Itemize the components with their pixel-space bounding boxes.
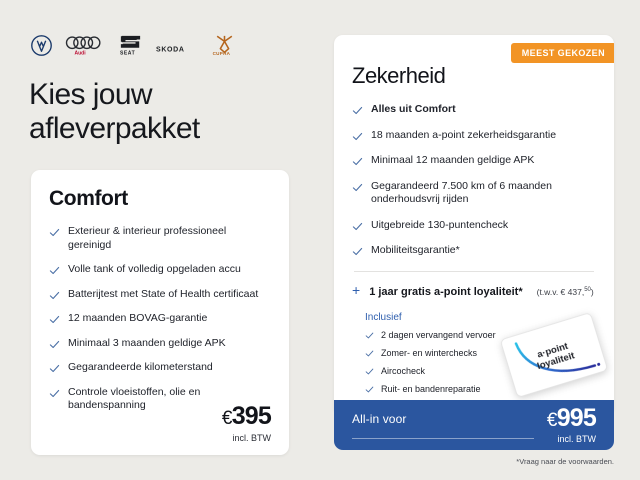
- feature-label: 12 maanden BOVAG-garantie: [68, 312, 207, 326]
- comfort-price-amount: 395: [232, 402, 271, 430]
- allin-rule: [352, 438, 534, 439]
- brand-logo-bar: Audi SEAT SKODA CUPRA: [31, 32, 238, 56]
- check-icon: [49, 314, 60, 325]
- allin-price-amount: 995: [557, 404, 596, 432]
- list-item: Alles uit Comfort: [352, 103, 596, 117]
- volkswagen-logo: [31, 35, 52, 56]
- feature-label: 18 maanden a-point zekerheidsgarantie: [371, 129, 556, 143]
- zekerheid-feature-list: Alles uit Comfort18 maanden a-point zeke…: [352, 103, 596, 258]
- comfort-card-title: Comfort: [49, 187, 271, 211]
- svg-text:CUPRA: CUPRA: [213, 51, 231, 56]
- feature-label: Batterijtest met State of Health certifi…: [68, 288, 258, 302]
- check-icon: [352, 131, 363, 142]
- feature-label: Minimaal 3 maanden geldige APK: [68, 337, 226, 351]
- skoda-logo: SKODA: [156, 42, 198, 56]
- comfort-price-currency: €: [222, 408, 232, 429]
- zekerheid-package-card[interactable]: MEEST GEKOZEN Zekerheid Alles uit Comfor…: [334, 35, 614, 410]
- left-column: Audi SEAT SKODA CUPRA Kies jouwafleverpa…: [0, 0, 320, 480]
- page-title-line1: Kies jouw: [29, 78, 152, 111]
- seat-logo: SEAT: [118, 34, 143, 56]
- svg-text:SEAT: SEAT: [120, 51, 136, 56]
- list-item: 18 maanden a-point zekerheidsgarantie: [352, 129, 596, 143]
- feature-label: Mobiliteitsgarantie*: [371, 244, 460, 258]
- zekerheid-card-title: Zekerheid: [352, 63, 596, 89]
- comfort-package-card[interactable]: Comfort Exterieur & interieur profession…: [31, 170, 289, 455]
- loyalty-offer-title: 1 jaar gratis a-point loyaliteit*: [369, 286, 522, 298]
- svg-text:SKODA: SKODA: [156, 46, 185, 53]
- check-icon: [365, 385, 374, 394]
- loyalty-value-suffix: ): [591, 287, 594, 297]
- loyalty-value-cents: 50: [584, 287, 591, 293]
- check-icon: [49, 363, 60, 374]
- feature-label: Volle tank of volledig opgeladen accu: [68, 263, 241, 277]
- check-icon: [49, 265, 60, 276]
- list-item: Batterijtest met State of Health certifi…: [49, 288, 271, 302]
- svg-text:Audi: Audi: [75, 51, 87, 56]
- allin-price-currency: €: [547, 410, 557, 431]
- list-item: Gegarandeerde kilometerstand: [49, 361, 271, 375]
- plus-icon: +: [352, 284, 360, 296]
- comfort-price-block: €395 incl. BTW: [222, 403, 271, 443]
- comfort-price-note: incl. BTW: [222, 433, 271, 443]
- list-item: Exterieur & interieur professioneel gere…: [49, 225, 271, 252]
- list-item: Minimaal 3 maanden geldige APK: [49, 337, 271, 351]
- feature-label: Gegarandeerd 7.500 km of 6 maanden onder…: [371, 180, 596, 207]
- footnote: *Vraag naar de voorwaarden.: [516, 457, 614, 466]
- check-icon: [352, 105, 363, 116]
- loyalty-value-prefix: (t.w.v. € 437,: [537, 287, 585, 297]
- feature-label: Gegarandeerde kilometerstand: [68, 361, 213, 375]
- feature-label: Aircocheck: [381, 366, 425, 377]
- feature-label: 2 dagen vervangend vervoer: [381, 330, 496, 341]
- allin-price: €995: [547, 405, 596, 434]
- check-icon: [49, 290, 60, 301]
- loyalty-offer-row: + 1 jaar gratis a-point loyaliteit* (t.w…: [352, 284, 596, 298]
- included-section: Inclusief 2 dagen vervangend vervoerZome…: [352, 312, 596, 395]
- list-item: 12 maanden BOVAG-garantie: [49, 312, 271, 326]
- check-icon: [49, 227, 60, 238]
- comfort-feature-list: Exterieur & interieur professioneel gere…: [49, 225, 271, 413]
- allin-price-block: €995 incl. BTW: [547, 405, 596, 444]
- check-icon: [49, 388, 60, 399]
- loyalty-offer-value: (t.w.v. € 437,50): [537, 287, 594, 297]
- allin-price-note: incl. BTW: [547, 434, 596, 444]
- feature-label: Ruit- en bandenreparatie: [381, 384, 481, 395]
- allin-price-bar: All-in voor €995 incl. BTW: [334, 400, 614, 450]
- check-icon: [352, 221, 363, 232]
- feature-label: Minimaal 12 maanden geldige APK: [371, 154, 534, 168]
- list-item: Minimaal 12 maanden geldige APK: [352, 154, 596, 168]
- list-item: Uitgebreide 130-puntencheck: [352, 219, 596, 233]
- check-icon: [365, 367, 374, 376]
- list-item: Volle tank of volledig opgeladen accu: [49, 263, 271, 277]
- feature-label: Alles uit Comfort: [371, 103, 456, 117]
- page-title-line2: afleverpakket: [29, 112, 200, 145]
- check-icon: [352, 246, 363, 257]
- list-item: Gegarandeerd 7.500 km of 6 maanden onder…: [352, 180, 596, 207]
- comfort-price: €395: [222, 403, 271, 432]
- page-title: Kies jouwafleverpakket: [29, 78, 299, 146]
- card-divider: [354, 271, 594, 272]
- check-icon: [49, 339, 60, 350]
- cupra-logo: CUPRA: [211, 34, 238, 56]
- feature-label: Uitgebreide 130-puntencheck: [371, 219, 508, 233]
- status-badge: MEEST GEKOZEN: [511, 43, 614, 63]
- check-icon: [365, 331, 374, 340]
- feature-label: Zomer- en winterchecks: [381, 348, 477, 359]
- allin-label: All-in voor: [352, 412, 406, 426]
- check-icon: [352, 156, 363, 167]
- feature-label: Exterieur & interieur professioneel gere…: [68, 225, 271, 252]
- audi-logo: Audi: [65, 35, 105, 56]
- check-icon: [352, 182, 363, 193]
- check-icon: [365, 349, 374, 358]
- list-item: Mobiliteitsgarantie*: [352, 244, 596, 258]
